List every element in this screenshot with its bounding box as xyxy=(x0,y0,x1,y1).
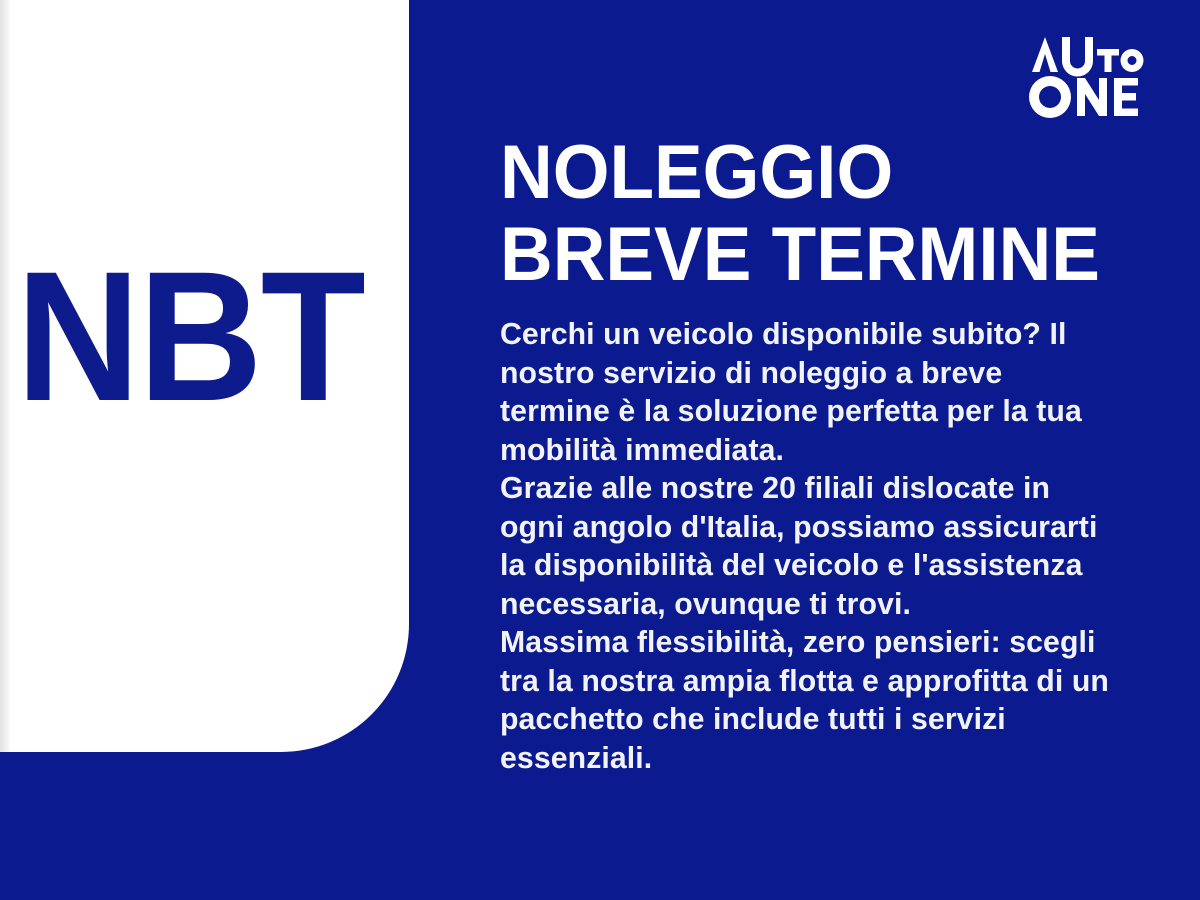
promo-poster: NBT NOLEGGIO BREVE TERMINE Cerch xyxy=(0,0,1200,900)
body-paragraph-3: Massima flessibilità, zero pensieri: sce… xyxy=(500,623,1120,777)
nbt-abbreviation: NBT xyxy=(13,245,366,430)
headline-line-1: NOLEGGIO xyxy=(500,130,893,215)
body-copy: Cerchi un veicolo disponibile subito? Il… xyxy=(500,315,1120,777)
headline-line-2: BREVE TERMINE xyxy=(500,214,1134,296)
content-column: NOLEGGIO BREVE TERMINE Cerchi un veicolo… xyxy=(500,132,1160,777)
page-title: NOLEGGIO BREVE TERMINE xyxy=(500,132,1134,296)
autoone-logo xyxy=(1024,32,1156,118)
body-paragraph-1: Cerchi un veicolo disponibile subito? Il… xyxy=(500,315,1120,469)
page-edge-shading xyxy=(0,0,11,752)
body-paragraph-2: Grazie alle nostre 20 filiali dislocate … xyxy=(500,469,1120,623)
